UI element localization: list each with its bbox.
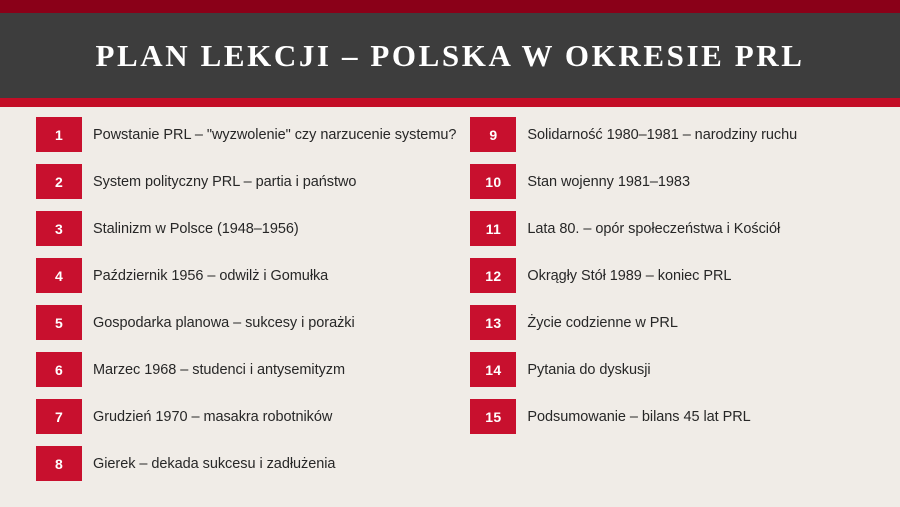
lesson-number-badge: 11 (470, 211, 516, 246)
lesson-item-label: Gospodarka planowa – sukcesy i porażki (93, 315, 355, 331)
lesson-item-label: Pytania do dyskusji (527, 362, 650, 378)
lesson-list-area: 1Powstanie PRL – "wyzwolenie" czy narzuc… (0, 107, 900, 507)
lesson-item[interactable]: 12Okrągły Stół 1989 – koniec PRL (470, 258, 900, 293)
lesson-item-label: Powstanie PRL – "wyzwolenie" czy narzuce… (93, 127, 456, 143)
lesson-item-label: Podsumowanie – bilans 45 lat PRL (527, 409, 750, 425)
lesson-item[interactable]: 4Październik 1956 – odwilż i Gomułka (36, 258, 456, 293)
lesson-number-badge: 14 (470, 352, 516, 387)
lesson-item[interactable]: 6Marzec 1968 – studenci i antysemityzm (36, 352, 456, 387)
lesson-number-badge: 15 (470, 399, 516, 434)
lesson-number-badge: 4 (36, 258, 82, 293)
lesson-item-label: System polityczny PRL – partia i państwo (93, 174, 356, 190)
lesson-number-badge: 3 (36, 211, 82, 246)
lesson-item-label: Okrągły Stół 1989 – koniec PRL (527, 268, 731, 284)
lesson-item[interactable]: 2System polityczny PRL – partia i państw… (36, 164, 456, 199)
lesson-item[interactable]: 3Stalinizm w Polsce (1948–1956) (36, 211, 456, 246)
lesson-item[interactable]: 15Podsumowanie – bilans 45 lat PRL (470, 399, 900, 434)
lesson-item[interactable]: 9Solidarność 1980–1981 – narodziny ruchu (470, 117, 900, 152)
lesson-item-label: Życie codzienne w PRL (527, 315, 677, 331)
lesson-item[interactable]: 5Gospodarka planowa – sukcesy i porażki (36, 305, 456, 340)
lesson-number-badge: 2 (36, 164, 82, 199)
lesson-item[interactable]: 7Grudzień 1970 – masakra robotników (36, 399, 456, 434)
lesson-item[interactable]: 14Pytania do dyskusji (470, 352, 900, 387)
lesson-number-badge: 5 (36, 305, 82, 340)
lesson-column-left: 1Powstanie PRL – "wyzwolenie" czy narzuc… (0, 117, 456, 507)
lesson-number-badge: 6 (36, 352, 82, 387)
lesson-item[interactable]: 11Lata 80. – opór społeczeństwa i Kośció… (470, 211, 900, 246)
lesson-item-label: Lata 80. – opór społeczeństwa i Kościół (527, 221, 780, 237)
lesson-item-label: Grudzień 1970 – masakra robotników (93, 409, 332, 425)
lesson-number-badge: 9 (470, 117, 516, 152)
page-title: PLAN LEKCJI – POLSKA W OKRESIE PRL (95, 37, 804, 75)
lesson-number-badge: 10 (470, 164, 516, 199)
lesson-item-label: Gierek – dekada sukcesu i zadłużenia (93, 456, 335, 472)
lesson-item-label: Stalinizm w Polsce (1948–1956) (93, 221, 299, 237)
lesson-item-label: Stan wojenny 1981–1983 (527, 174, 690, 190)
lesson-item[interactable]: 8Gierek – dekada sukcesu i zadłużenia (36, 446, 456, 481)
lesson-item[interactable]: 10Stan wojenny 1981–1983 (470, 164, 900, 199)
header-title-bar: PLAN LEKCJI – POLSKA W OKRESIE PRL (0, 13, 900, 98)
lesson-number-badge: 1 (36, 117, 82, 152)
lesson-item[interactable]: 1Powstanie PRL – "wyzwolenie" czy narzuc… (36, 117, 456, 152)
lesson-number-badge: 8 (36, 446, 82, 481)
lesson-number-badge: 13 (470, 305, 516, 340)
lesson-item[interactable]: 13Życie codzienne w PRL (470, 305, 900, 340)
lesson-number-badge: 7 (36, 399, 82, 434)
lesson-item-label: Marzec 1968 – studenci i antysemityzm (93, 362, 345, 378)
header-bottom-accent-band (0, 98, 900, 107)
lesson-column-right: 9Solidarność 1980–1981 – narodziny ruchu… (456, 117, 900, 507)
slide-header: PLAN LEKCJI – POLSKA W OKRESIE PRL (0, 0, 900, 107)
lesson-number-badge: 12 (470, 258, 516, 293)
lesson-item-label: Październik 1956 – odwilż i Gomułka (93, 268, 328, 284)
lesson-item-label: Solidarność 1980–1981 – narodziny ruchu (527, 127, 797, 143)
header-top-accent-band (0, 0, 900, 13)
